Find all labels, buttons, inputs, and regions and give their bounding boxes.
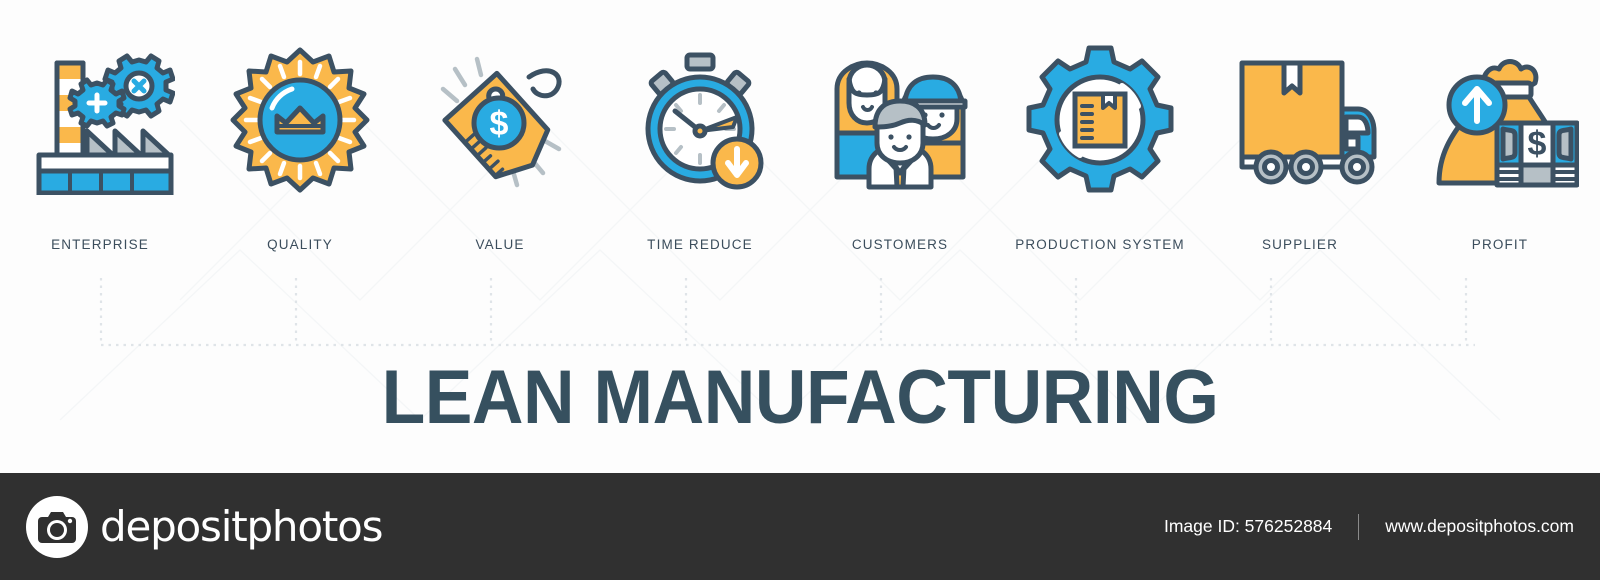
people-group-icon [821, 40, 979, 200]
icon-row: $ [0, 40, 1600, 220]
item-customers[interactable] [800, 40, 1000, 220]
item-label-customers: CUSTOMERS [852, 237, 948, 252]
item-label-supplier: SUPPLIER [1262, 237, 1338, 252]
money-bag-cash-arrow-up-icon: $ [1421, 40, 1579, 200]
item-label-enterprise: ENTERPRISE [51, 237, 149, 252]
label-cell-time-reduce: TIME REDUCE [600, 232, 800, 256]
svg-text:$: $ [1528, 125, 1547, 163]
label-cell-enterprise: ENTERPRISE [0, 232, 200, 256]
footer-bar: depositphotos Image ID: 576252884 www.de… [0, 473, 1600, 580]
item-profit[interactable]: $ [1400, 40, 1600, 220]
item-label-production-system: PRODUCTION SYSTEM [1015, 237, 1185, 252]
svg-text:$: $ [490, 105, 509, 143]
camera-icon [26, 496, 88, 558]
label-cell-profit: PROFIT [1400, 232, 1600, 256]
image-id: Image ID: 576252884 [1164, 516, 1332, 537]
item-label-profit: PROFIT [1472, 237, 1528, 252]
item-label-time-reduce: TIME REDUCE [647, 237, 753, 252]
brand-name: depositphotos [100, 502, 382, 551]
item-value[interactable]: $ [400, 40, 600, 220]
item-supplier[interactable] [1200, 40, 1400, 220]
label-cell-quality: QUALITY [200, 232, 400, 256]
delivery-truck-box-icon [1218, 40, 1383, 200]
stopwatch-arrow-down-icon [625, 40, 775, 200]
page-title: LEAN MANUFACTURING [48, 352, 1552, 444]
quality-badge-crown-icon [225, 40, 375, 200]
label-cell-value: VALUE [400, 232, 600, 256]
factory-gears-icon [25, 40, 175, 200]
label-cell-supplier: SUPPLIER [1200, 232, 1400, 256]
item-label-value: VALUE [475, 237, 524, 252]
footer-meta: Image ID: 576252884 www.depositphotos.co… [1164, 514, 1574, 540]
website-link[interactable]: www.depositphotos.com [1385, 516, 1574, 537]
label-cell-production-system: PRODUCTION SYSTEM [1000, 232, 1200, 256]
item-enterprise[interactable] [0, 40, 200, 220]
dotted-connectors [0, 262, 1600, 352]
item-production-system[interactable] [1000, 40, 1200, 220]
brand-logo[interactable]: depositphotos [26, 496, 382, 558]
gear-box-icon [1025, 40, 1175, 200]
item-label-quality: QUALITY [267, 237, 333, 252]
label-row: ENTERPRISE QUALITY VALUE TIME REDUCE CUS… [0, 232, 1600, 256]
price-tag-dollar-icon: $ [425, 40, 575, 200]
item-quality[interactable] [200, 40, 400, 220]
infographic-canvas: $ [0, 0, 1600, 580]
item-time-reduce[interactable] [600, 40, 800, 220]
meta-divider [1358, 514, 1359, 540]
label-cell-customers: CUSTOMERS [800, 232, 1000, 256]
